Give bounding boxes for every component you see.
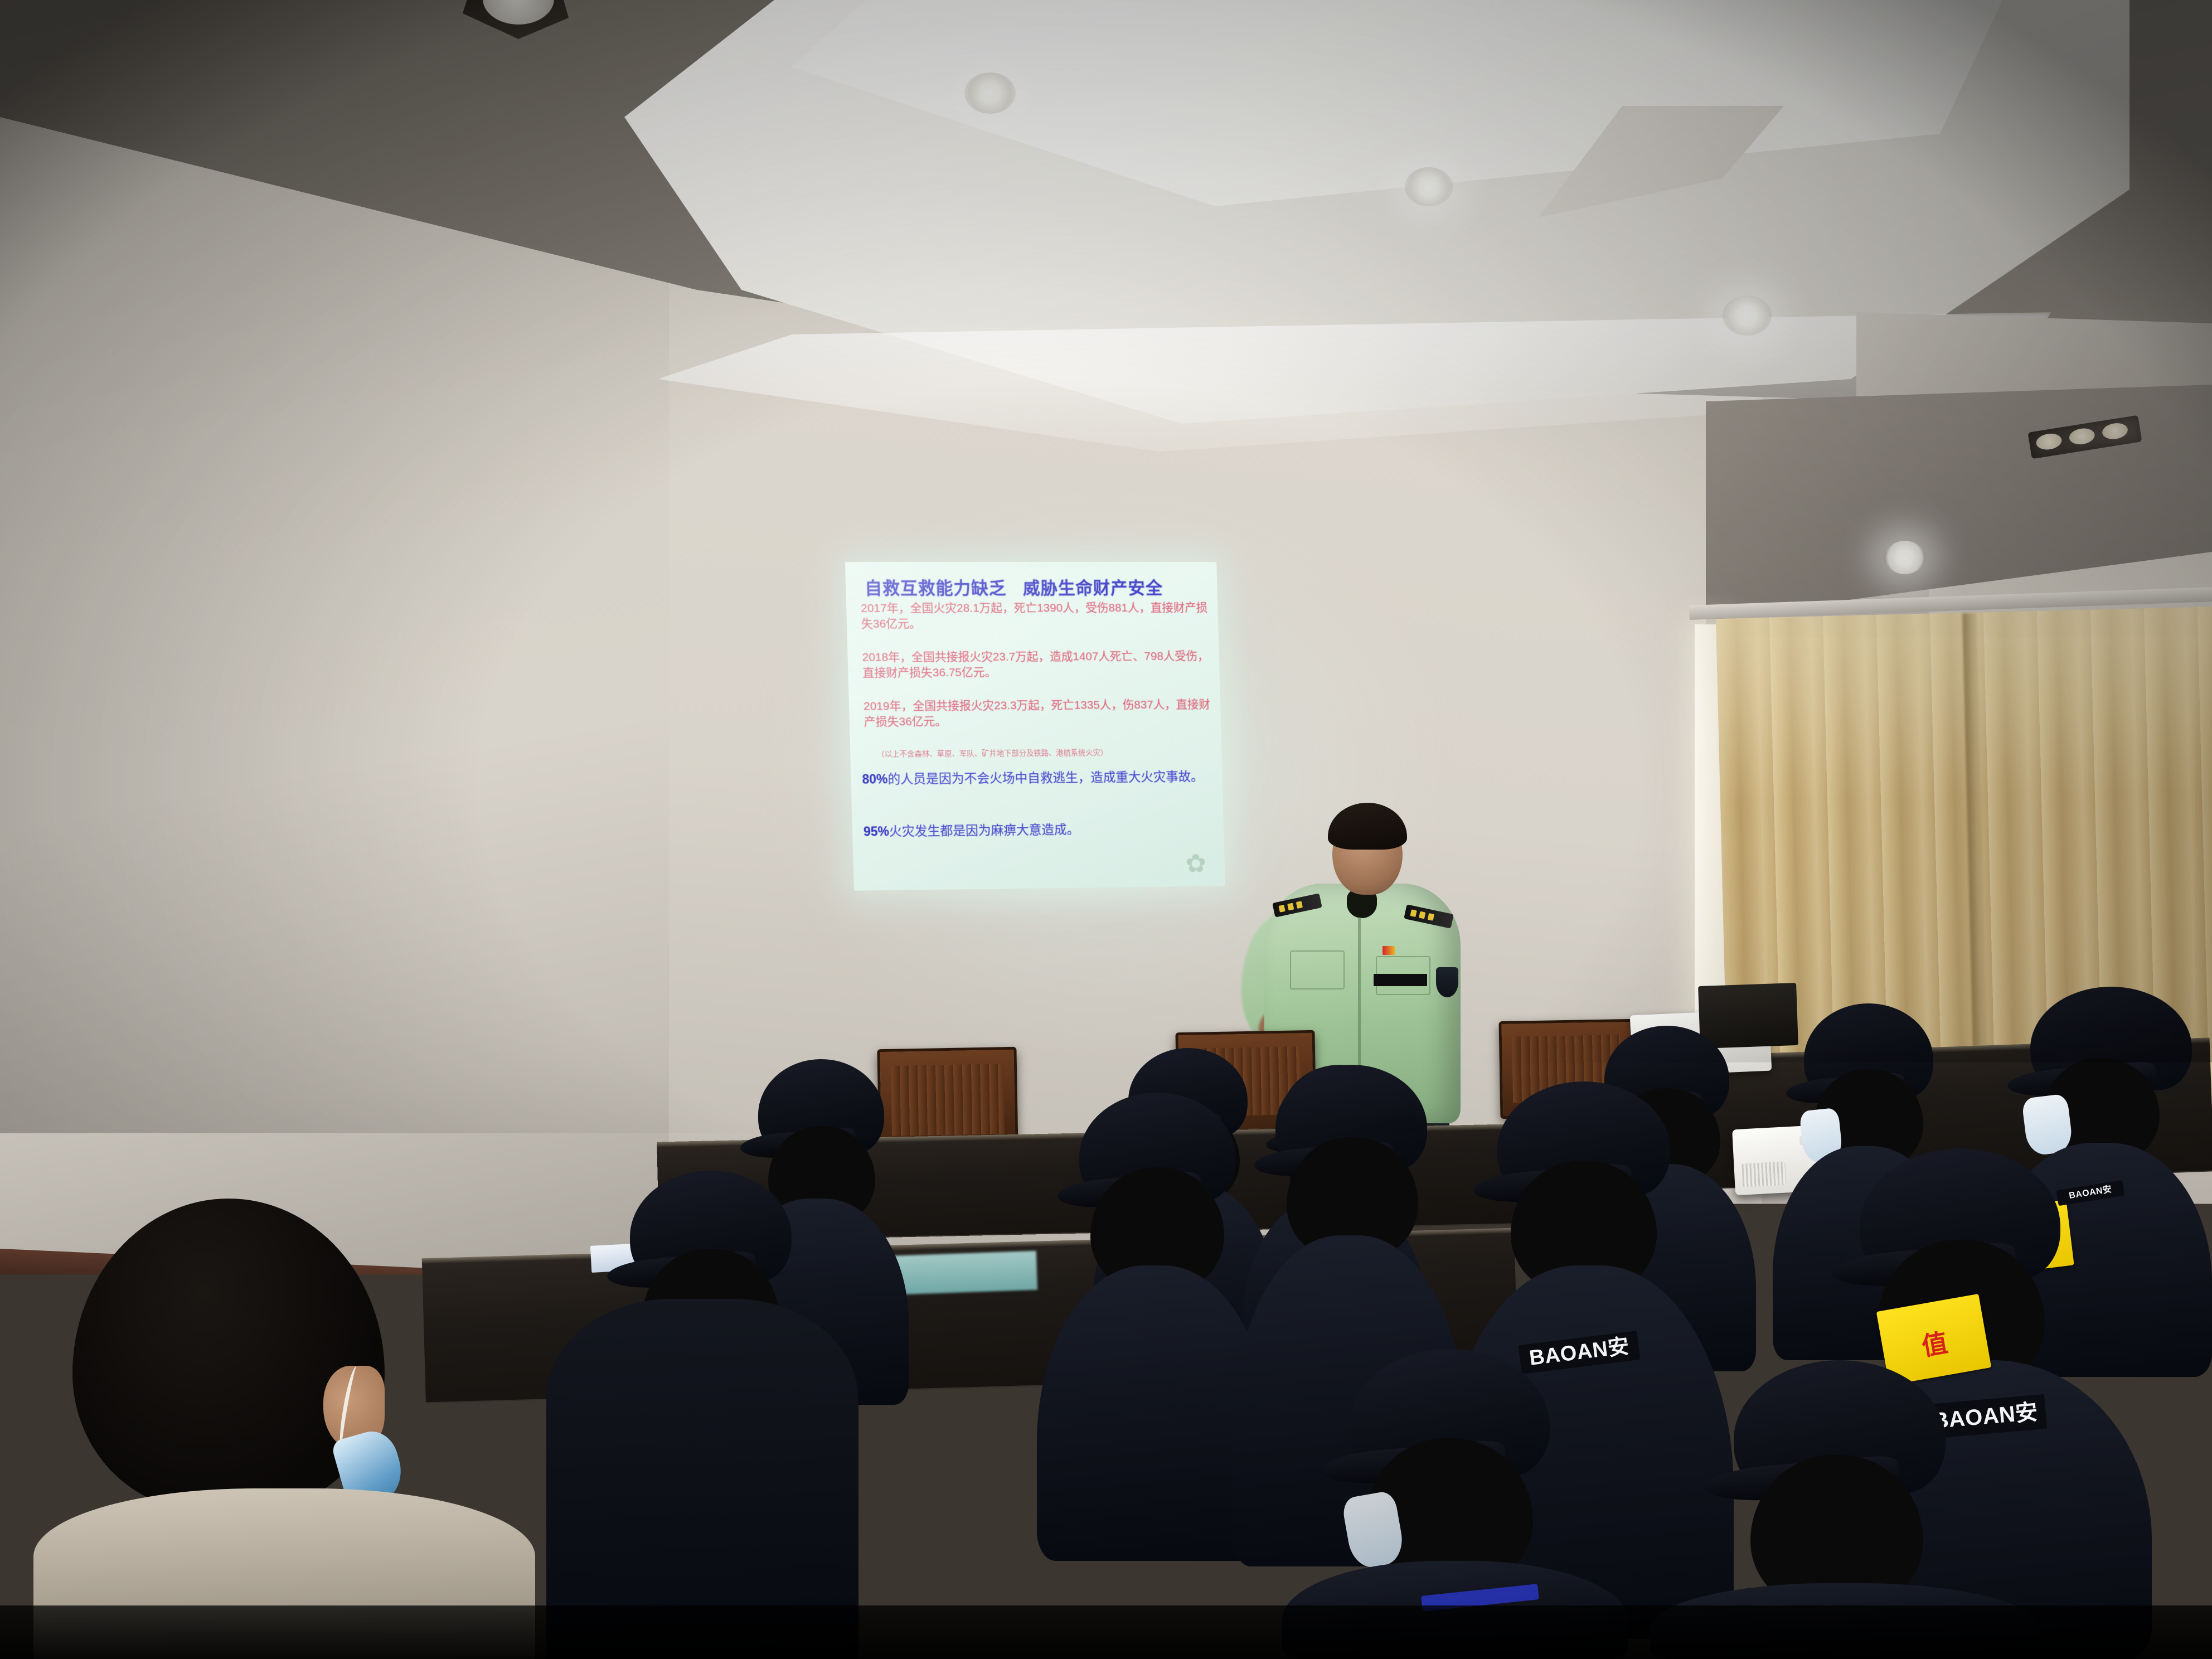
ceiling-downlight-icon bbox=[964, 72, 1016, 114]
slide-highlight-80-pct: 80% bbox=[862, 772, 888, 786]
presenter-badge-icon bbox=[1382, 946, 1395, 955]
slide-logo-icon: ✿ bbox=[1181, 847, 1211, 880]
photo-scene: 自救互救能力缺乏威胁生命财产安全 2017年，全国火灾28.1万起，死亡1390… bbox=[0, 0, 2212, 1659]
ceiling-downlight-icon bbox=[1405, 167, 1453, 206]
ceiling-downlight-icon bbox=[1723, 295, 1772, 336]
slide-paragraph-2018: 2018年，全国共接报火灾23.7万起，造成1407人死亡、798人受伤，直接财… bbox=[862, 649, 1212, 681]
presenter-epaulet-right bbox=[1404, 904, 1454, 928]
torso bbox=[1282, 1561, 1628, 1659]
foreground-person bbox=[33, 1199, 535, 1659]
slide-highlight-95: 95%火灾发生都是因为麻痹大意造成。 bbox=[864, 820, 1220, 840]
slide-footnote: （以上不含森林、草原、军队、矿井地下部分及铁路、港航系统火灾） bbox=[877, 745, 1212, 759]
audience-member-front bbox=[1282, 1349, 1628, 1659]
beige-shirt bbox=[33, 1488, 535, 1659]
slide-title-left: 自救互救能力缺乏 bbox=[865, 579, 1007, 598]
audience-member-front bbox=[546, 1299, 858, 1659]
slide-paragraph-2019: 2019年，全国共接报火灾23.3万起，死亡1335人，伤837人，直接财产损失… bbox=[864, 697, 1214, 730]
slide-title-right: 威胁生命财产安全 bbox=[1023, 579, 1163, 598]
slide-highlight-80-text: 的人员是因为不会火场中自救逃生，造成重大火灾事故。 bbox=[887, 769, 1204, 787]
slide-highlight-95-text: 火灾发生都是因为麻痹大意造成。 bbox=[889, 822, 1080, 838]
slide-highlight-80: 80%的人员是因为不会火场中自救逃生，造成重大火灾事故。 bbox=[862, 769, 1218, 788]
slide-paragraph-2017: 2017年，全国火灾28.1万起，死亡1390人，受伤881人，直接财产损失36… bbox=[861, 600, 1211, 632]
projected-slide: 自救互救能力缺乏威胁生命财产安全 2017年，全国火灾28.1万起，死亡1390… bbox=[845, 562, 1225, 891]
presenter-pocket-left bbox=[1290, 950, 1345, 989]
audience-member-front bbox=[1650, 1360, 2040, 1659]
ceiling-downlight-icon bbox=[1884, 541, 1925, 574]
collar-stripe bbox=[1421, 1584, 1539, 1612]
torso bbox=[1650, 1583, 2040, 1659]
left-wall-panel bbox=[0, 117, 730, 1277]
slide-title: 自救互救能力缺乏威胁生命财产安全 bbox=[865, 574, 1206, 599]
presenter-shoulder-patch bbox=[1436, 967, 1458, 997]
presenter-nametag bbox=[1374, 974, 1427, 986]
slide-highlight-95-pct: 95% bbox=[864, 824, 890, 838]
